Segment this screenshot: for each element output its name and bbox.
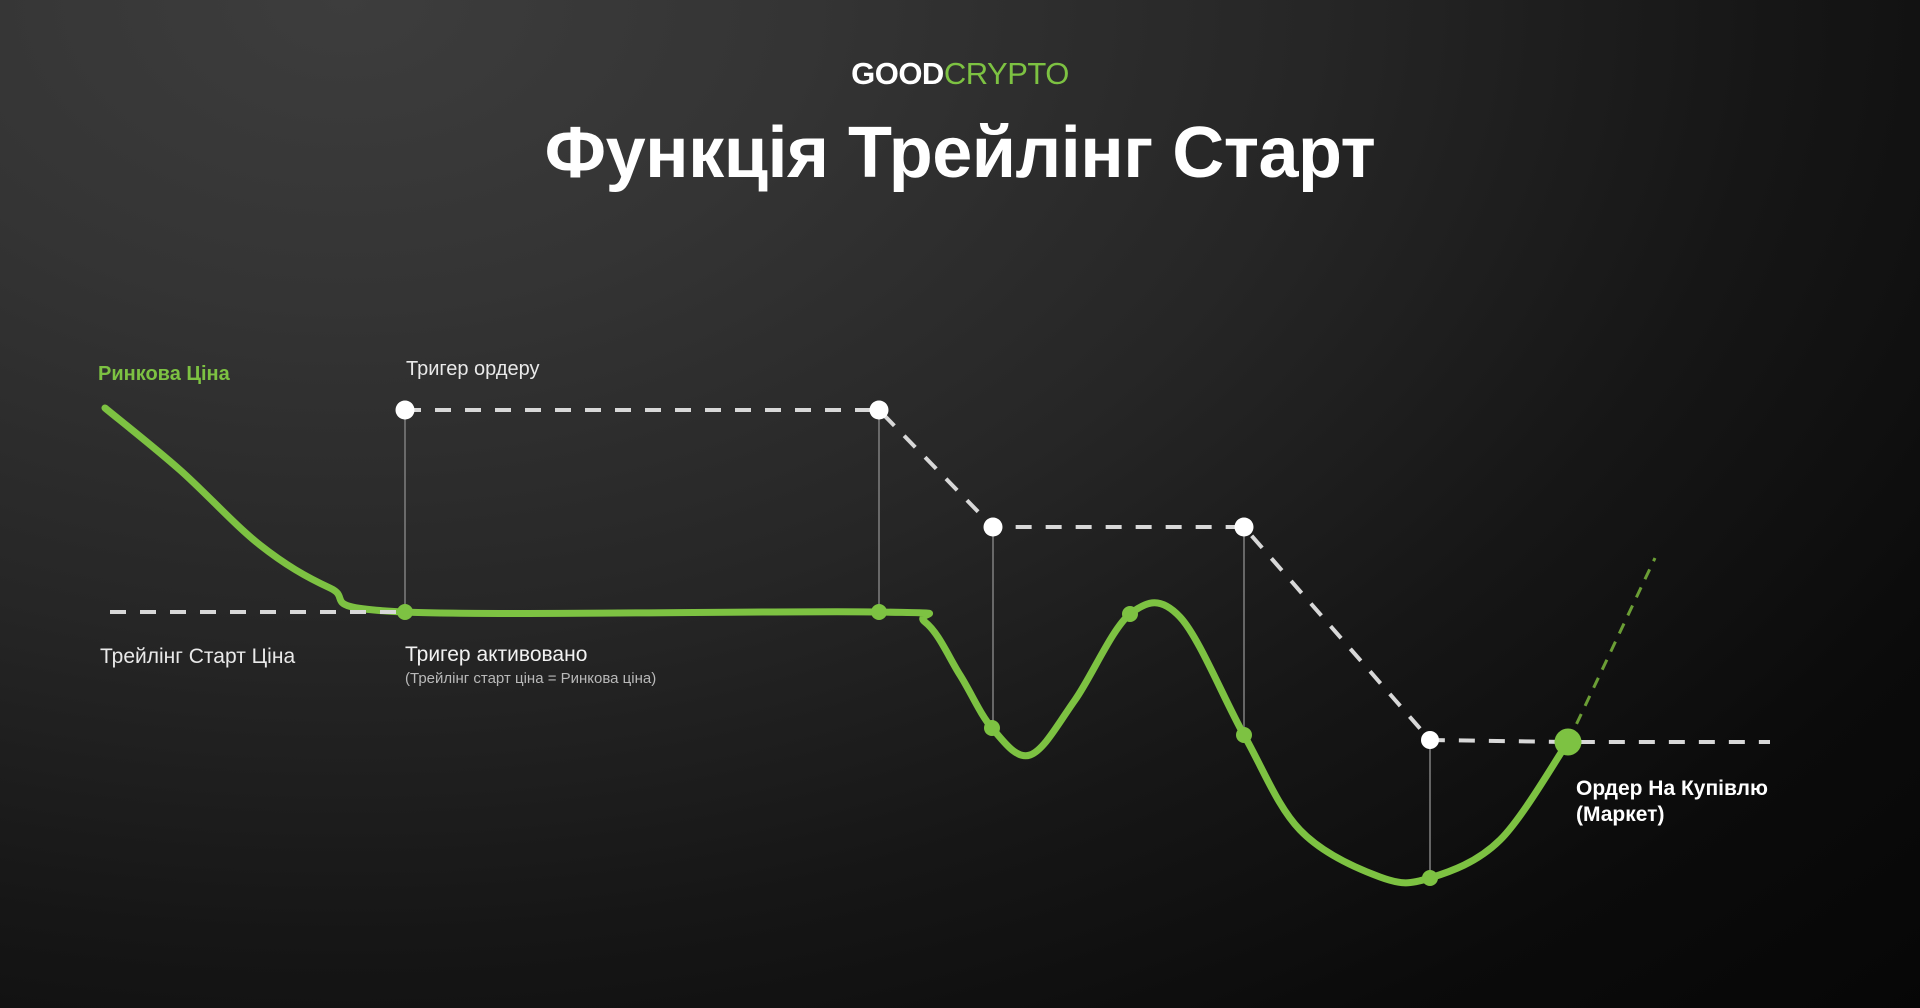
trigger-node-3 (984, 518, 1003, 537)
price-node-activated (397, 604, 413, 620)
label-order-trigger: Тригер ордеру (406, 358, 540, 381)
label-buy-order: Ордер На Купівлю (Маркет) (1576, 776, 1768, 829)
price-node-peak (1122, 606, 1138, 622)
series-path-3 (405, 410, 1770, 742)
label-market-price: Ринкова Ціна (98, 363, 230, 386)
price-node-4 (1236, 727, 1252, 743)
label-trigger-activated: Тригер активовано (Трейлінг старт ціна =… (405, 643, 656, 687)
infographic-canvas: GOODCRYPTO Функція Трейлінг Старт Ринков… (0, 0, 1920, 1008)
series-path-2 (1568, 558, 1655, 742)
label-buy-order-line2: (Маркет) (1576, 802, 1768, 828)
label-trailing-start-price: Трейлінг Старт Ціна (100, 645, 295, 669)
price-node-2 (871, 604, 887, 620)
trailing-start-chart (0, 0, 1920, 1008)
label-trigger-activated-title: Тригер активовано (405, 643, 587, 666)
label-trigger-activated-subtitle: (Трейлінг старт ціна = Ринкова ціна) (405, 670, 656, 687)
trigger-node-5 (1421, 731, 1439, 749)
trigger-node-4 (1235, 518, 1254, 537)
price-node-low-1 (984, 720, 1000, 736)
label-buy-order-line1: Ордер На Купівлю (1576, 777, 1768, 800)
chart-svg (0, 0, 1920, 1008)
chart-series (105, 408, 1770, 883)
trigger-node-1 (396, 401, 415, 420)
trigger-node-2 (870, 401, 889, 420)
buy-order-node (1555, 729, 1582, 756)
price-node-bottom (1422, 870, 1438, 886)
series-path-1 (105, 408, 1568, 883)
